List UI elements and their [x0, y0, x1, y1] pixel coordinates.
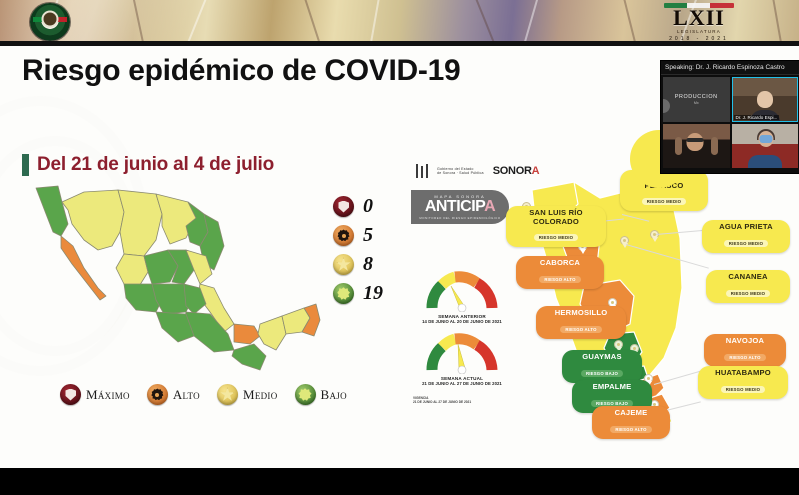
gauge-current-week: SEMANA ACTUAL 21 DE JUNIO AL 27 DE JUNIO…: [412, 330, 512, 386]
screen: LXII LEGISLATURA 2018 - 2021 Riesgo epid…: [0, 0, 799, 495]
municipality-risk: RIESGO MEDIO: [721, 386, 765, 393]
gauge-range-current: 21 DE JUNIO AL 27 DE JUNIO DE 2021: [412, 381, 512, 386]
municipality-name: CABORCA: [525, 259, 595, 268]
anticipa-title: ANTICIPA: [425, 199, 495, 215]
count-value-bajo: 19: [363, 282, 383, 305]
video-conference-panel[interactable]: Speaking: Dr. J. Ricardo Espinoza Castro…: [660, 60, 799, 174]
municipality-name: EMPALME: [581, 383, 643, 392]
map-pin-cananea[interactable]: [620, 236, 629, 248]
municipality-name: AGUA PRIETA: [711, 223, 781, 232]
star-icon: [333, 254, 354, 275]
participant-head: [757, 91, 773, 108]
legend-label-alto: Alto: [173, 387, 200, 403]
vigencia-note: VIGENCIA 21 DE JUNIO AL 27 DE JUNIO DE 2…: [413, 396, 471, 405]
video-tile-ricardo[interactable]: Dr. J. Ricardo Espi...: [732, 77, 799, 122]
municipality-name: CANANEA: [715, 273, 781, 282]
legend-item-bajo: Bajo: [295, 384, 347, 405]
gauge-dial: [425, 268, 499, 312]
municipality-label-agua-prieta[interactable]: AGUA PRIETA RIESGO MEDIO: [702, 220, 790, 253]
shield-icon: [60, 384, 81, 405]
count-row-alto: 5: [333, 221, 403, 250]
gauge-previous-week: SEMANA ANTERIOR 14 DE JUNIO AL 20 DE JUN…: [412, 268, 512, 324]
legend-label-maximo: Máximo: [86, 387, 130, 403]
count-row-medio: 8: [333, 250, 403, 279]
municipality-name: NAVOJOA: [713, 337, 777, 346]
participant-arm: [711, 137, 718, 155]
video-tile-production[interactable]: PRODUCCION Mx: [663, 77, 730, 122]
count-row-maximo: 0: [333, 192, 403, 221]
anticipa-title-text: ANTICIP: [425, 198, 484, 215]
count-value-medio: 8: [363, 253, 373, 276]
shield-icon: [333, 196, 354, 217]
legend-item-alto: Alto: [147, 384, 200, 405]
anticipa-subtitle: MONITOREO DEL RIESGO EPIDEMIOLÓGICO: [419, 216, 500, 220]
gear-icon: [147, 384, 168, 405]
legislature-years: 2018 - 2021: [639, 36, 759, 42]
municipality-label-caborca[interactable]: CABORCA RIESGO ALTO: [516, 256, 604, 289]
sonora-panel: Gobierno del Estado de Sonora · Salud Pú…: [404, 164, 799, 426]
anticipa-title-accent: A: [484, 198, 495, 215]
video-tile-name: Dr. J. Ricardo Espi...: [734, 115, 780, 120]
municipality-risk: RIESGO MEDIO: [726, 290, 770, 297]
flower-icon: [333, 283, 354, 304]
municipality-risk: RIESGO BAJO: [581, 370, 623, 377]
gauge-range-previous: 14 DE JUNIO AL 20 DE JUNIO DE 2021: [412, 319, 512, 324]
municipality-risk: RIESGO ALTO: [724, 354, 765, 361]
avatar: [663, 99, 670, 113]
municipality-name: GUAYMAS: [571, 353, 633, 362]
video-tile-title: PRODUCCION: [675, 94, 718, 100]
legislature-logo: LXII LEGISLATURA 2018 - 2021: [639, 2, 759, 44]
banner-streak: [470, 0, 501, 46]
municipality-risk: RIESGO MEDIO: [534, 234, 578, 241]
video-tile-participant-3[interactable]: [663, 124, 730, 169]
page-title: Riesgo epidémico de COVID-19: [22, 54, 460, 88]
star-icon: [217, 384, 238, 405]
municipality-name: HUATABAMPO: [707, 369, 779, 378]
legislature-numeral: LXII: [639, 8, 759, 28]
date-range-heading: Del 21 de junio al 4 de julio: [22, 154, 274, 176]
mexico-risk-map: [28, 184, 328, 389]
risk-level-legend: Máximo Alto Medio Bajo: [60, 384, 347, 405]
anticipa-eyebrow: MAPA SONORA: [434, 194, 485, 199]
municipality-label-hermosillo[interactable]: HERMOSILLO RIESGO ALTO: [536, 306, 626, 339]
participant-arm: [675, 137, 682, 155]
anticipa-badge: MAPA SONORA ANTICIPA MONITOREO DEL RIESG…: [411, 190, 509, 224]
count-value-maximo: 0: [363, 195, 373, 218]
government-logo-icon: [416, 164, 432, 178]
banner-streak: [300, 0, 326, 46]
vigencia-range: 21 DE JUNIO AL 27 DE JUNIO DE 2021: [413, 400, 471, 404]
municipality-label-san-luis-rio-colorado[interactable]: SAN LUIS RÍO COLORADO RIESGO MEDIO: [506, 206, 606, 247]
banner-streak: [770, 0, 786, 46]
sonora-municipality-map: SAN LUIS RÍO COLORADO RIESGO MEDIO PUERT…: [504, 168, 799, 426]
gov-line-2: de Sonora · Salud Pública: [437, 171, 484, 175]
banner-streak: [130, 0, 148, 46]
banner-streak: [620, 0, 641, 46]
speaking-indicator: Speaking: Dr. J. Ricardo Espinoza Castro: [661, 61, 799, 75]
gear-icon: [333, 225, 354, 246]
video-tile-grid: PRODUCCION Mx Dr. J. Ricardo Espi...: [661, 75, 799, 170]
municipality-name: HERMOSILLO: [545, 309, 617, 318]
legend-item-maximo: Máximo: [60, 384, 130, 405]
municipality-label-guaymas[interactable]: GUAYMAS RIESGO BAJO: [562, 350, 642, 383]
participant-body: [748, 155, 782, 168]
banner-streak: [181, 0, 212, 46]
municipality-risk: RIESGO MEDIO: [642, 198, 686, 205]
glasses-icon: [686, 138, 703, 142]
decorative-top-banner: LXII LEGISLATURA 2018 - 2021: [0, 0, 799, 46]
municipality-name: CAJEME: [601, 409, 661, 418]
participant-head: [686, 133, 703, 151]
municipality-label-navojoa[interactable]: NAVOJOA RIESGO ALTO: [704, 334, 786, 367]
legend-label-medio: Medio: [243, 387, 278, 403]
flag-stripe-icon: [664, 3, 734, 8]
accent-bar: [22, 154, 29, 176]
video-tile-subtitle: Mx: [694, 101, 699, 105]
count-value-alto: 5: [363, 224, 373, 247]
municipality-label-cajeme[interactable]: CAJEME RIESGO ALTO: [592, 406, 670, 439]
gauge-dial: [425, 330, 499, 374]
legend-label-bajo: Bajo: [321, 387, 347, 403]
legend-item-medio: Medio: [217, 384, 278, 405]
map-pin-agua-prieta[interactable]: [650, 230, 659, 242]
date-range-text: Del 21 de junio al 4 de julio: [37, 154, 274, 176]
legislature-subtitle: LEGISLATURA: [639, 29, 759, 34]
face-mask-icon: [760, 135, 773, 143]
municipality-name: SAN LUIS RÍO COLORADO: [515, 209, 597, 226]
mexican-government-seal-icon: [30, 3, 70, 41]
municipality-risk: RIESGO ALTO: [560, 326, 601, 333]
letterbox-bottom: [0, 468, 799, 495]
risk-count-legend: 0 5 8 19: [333, 192, 403, 308]
banner-streak: [366, 0, 382, 46]
municipality-label-huatabampo[interactable]: HUATABAMPO RIESGO MEDIO: [698, 366, 788, 399]
municipality-risk: RIESGO ALTO: [610, 426, 651, 433]
count-row-bajo: 19: [333, 279, 403, 308]
banner-streak: [518, 0, 541, 46]
municipality-risk: RIESGO MEDIO: [724, 240, 768, 247]
flower-icon: [295, 384, 316, 405]
municipality-label-cananea[interactable]: CANANEA RIESGO MEDIO: [706, 270, 790, 303]
municipality-risk: RIESGO ALTO: [539, 276, 580, 283]
video-tile-participant-4[interactable]: [732, 124, 799, 169]
